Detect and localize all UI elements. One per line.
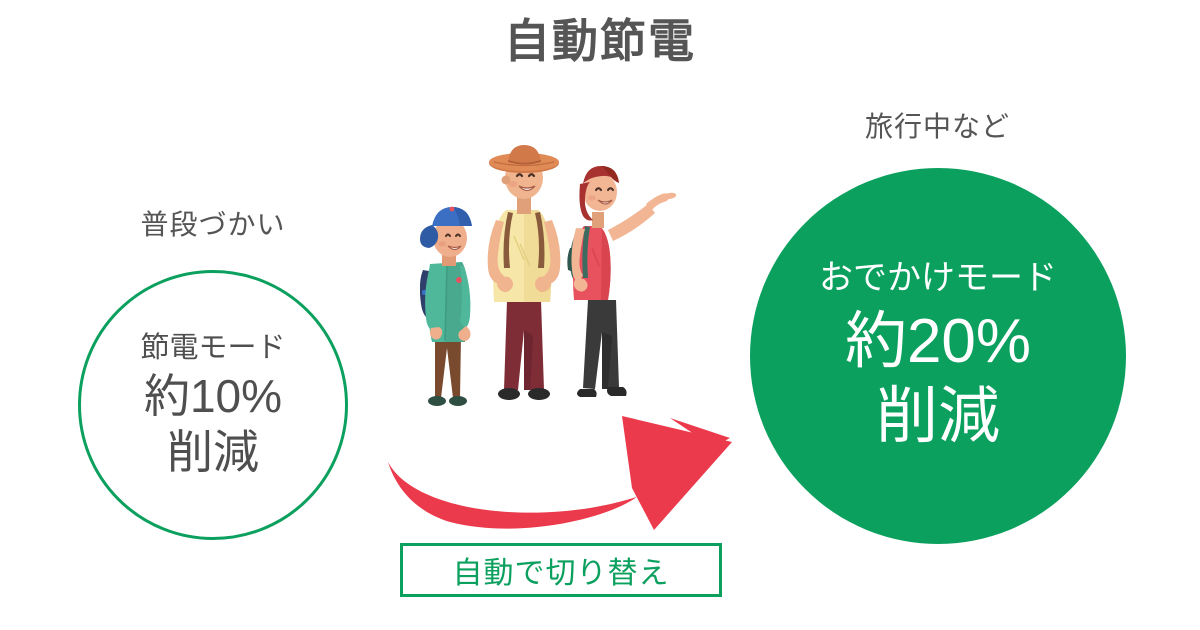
infographic-canvas: 自動節電 普段づかい 節電モード 約10% 削減 (0, 0, 1200, 630)
boy-figure (420, 207, 472, 406)
right-mode-value-suffix: 削減 (876, 379, 1000, 455)
family-travelers-illustration (420, 140, 700, 420)
left-mode-value-suffix: 削減 (167, 424, 259, 480)
woman-figure (567, 166, 676, 397)
right-mode-circle: おでかけモード 約20% 削減 (750, 168, 1126, 544)
man-figure (488, 145, 561, 400)
page-title: 自動節電 (0, 14, 1200, 69)
right-panel-caption: 旅行中など (750, 105, 1125, 145)
curved-right-arrow (370, 400, 770, 550)
auto-switch-box: 自動で切り替え (400, 543, 722, 597)
left-mode-label: 節電モード (140, 330, 285, 366)
auto-switch-label: 自動で切り替え (453, 548, 670, 592)
left-mode-value-percent: 約10% (144, 368, 282, 424)
left-mode-circle: 節電モード 約10% 削減 (78, 270, 348, 540)
right-mode-value-percent: 約20% (845, 304, 1031, 380)
right-mode-label: おでかけモード (819, 257, 1057, 300)
left-panel-caption: 普段づかい (78, 203, 348, 243)
